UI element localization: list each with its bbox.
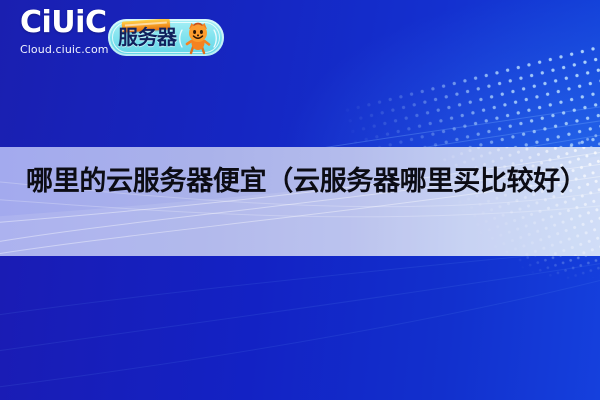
article-cover-image: CiUiC Cloud.ciuic.com 服务器 (0, 0, 600, 400)
orange-cat-mascot-icon (178, 20, 218, 56)
logo-wordmark: CiUiC (20, 8, 110, 38)
title-banner-band: 哪里的云服务器便宜（云服务器哪里买比较好） (0, 147, 600, 256)
logo-domain: Cloud.ciuic.com (20, 44, 110, 55)
page-title: 哪里的云服务器便宜（云服务器哪里买比较好） (26, 163, 582, 200)
server-badge: 服务器 (108, 19, 224, 56)
badge-label: 服务器 (118, 27, 177, 48)
brand-logo: CiUiC Cloud.ciuic.com (20, 8, 110, 55)
lower-background (0, 256, 600, 400)
